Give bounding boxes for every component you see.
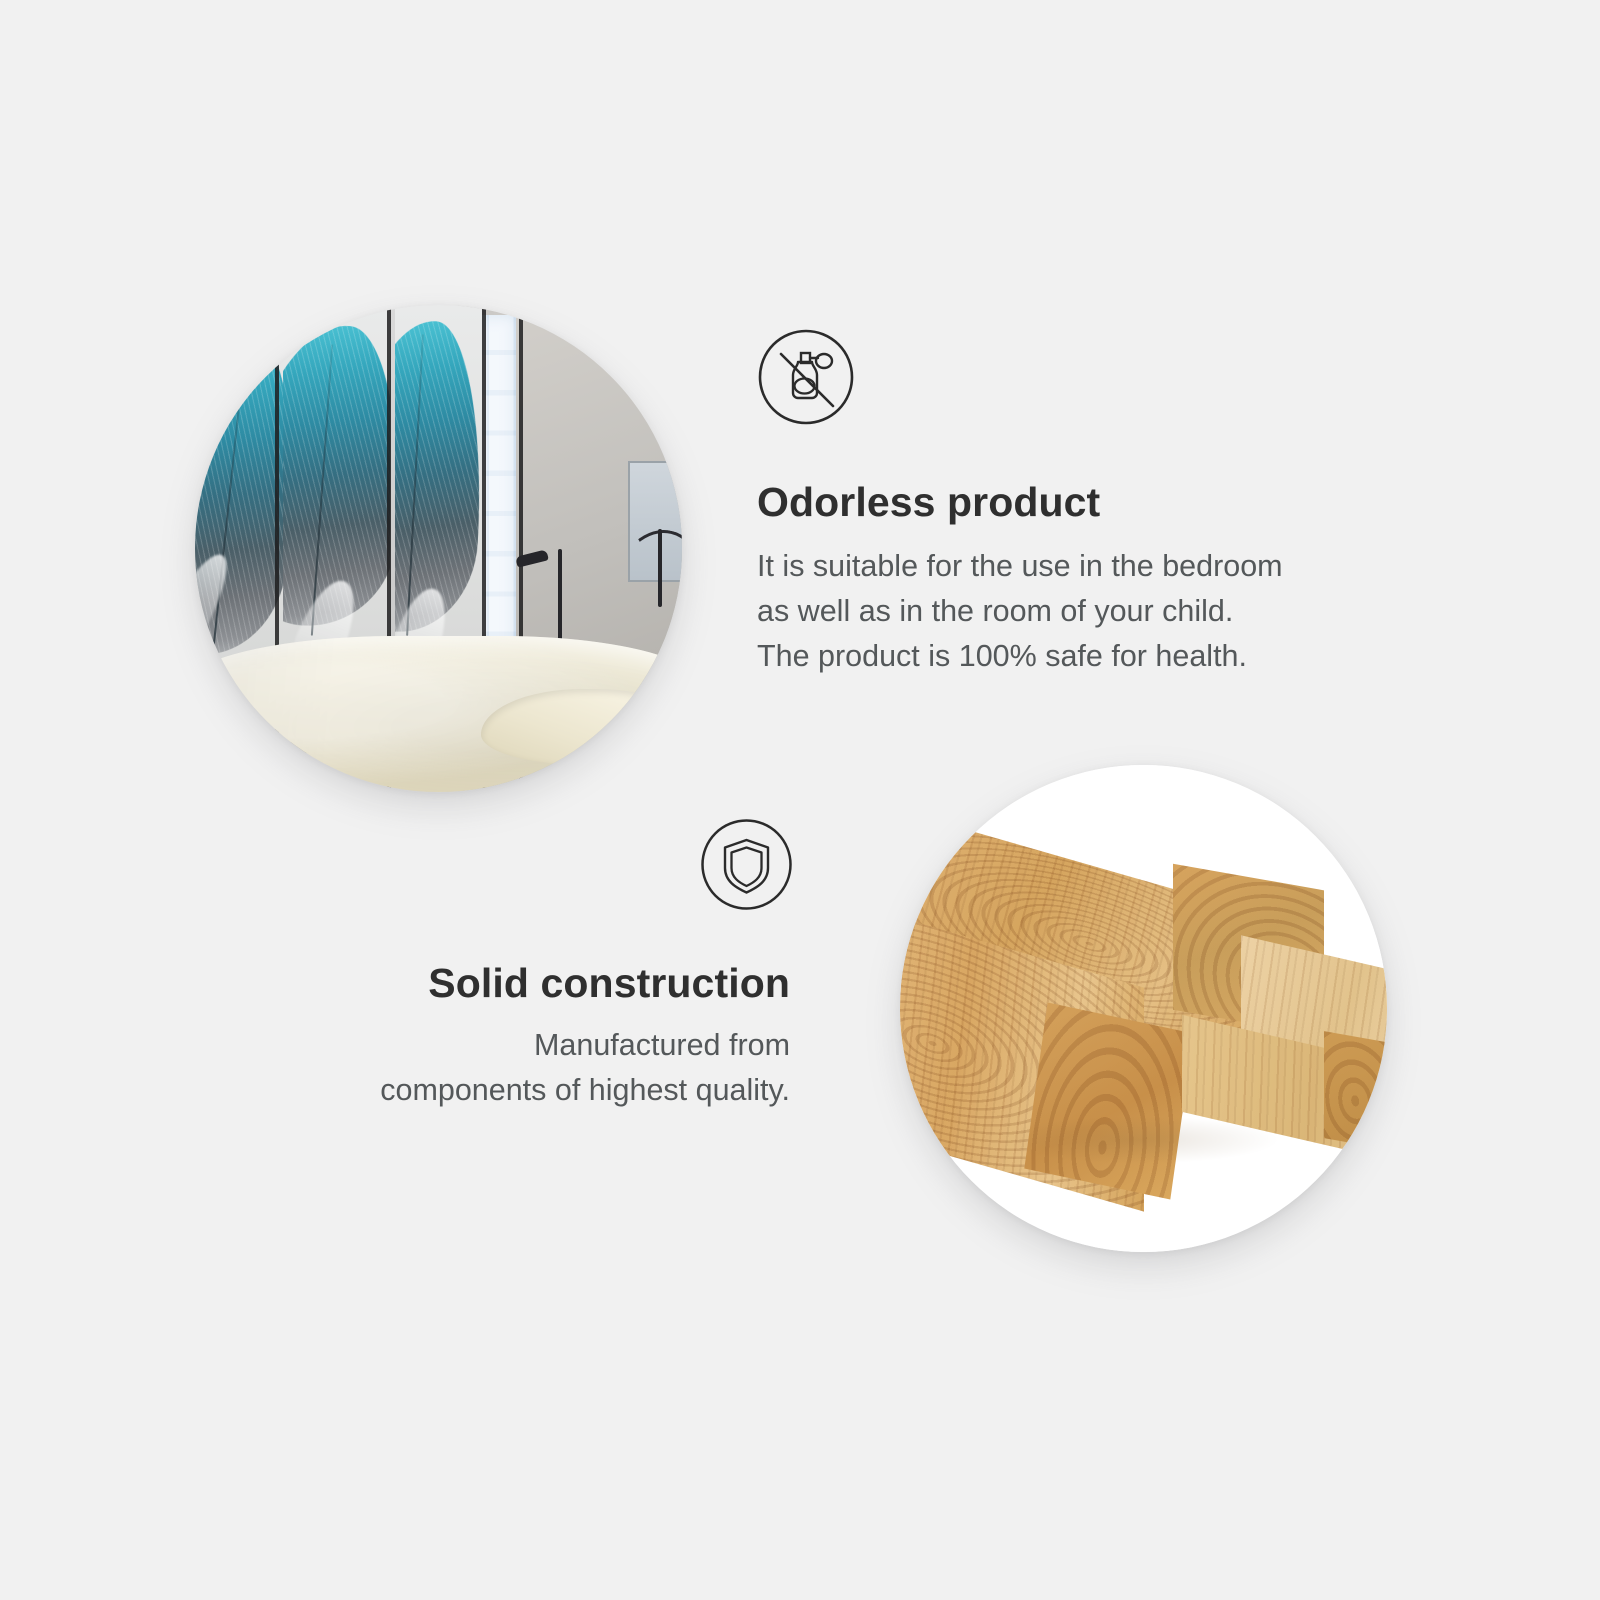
feature-body-line: components of highest quality.: [280, 1068, 790, 1113]
feature-body-line: It is suitable for the use in the bedroo…: [757, 544, 1283, 589]
feature-body-line: as well as in the room of your child.: [757, 589, 1283, 634]
feature-text-odorless: Odorless product It is suitable for the …: [757, 481, 1283, 679]
shield-icon: [700, 818, 793, 911]
feature-body-line: Manufactured from: [280, 1023, 790, 1068]
infographic-stage: Odorless product It is suitable for the …: [0, 0, 1600, 1600]
wooden-beams-photo: [900, 765, 1387, 1252]
feature-body-line: The product is 100% safe for health.: [757, 634, 1283, 679]
feature-text-solid-construction: Solid construction Manufactured from com…: [280, 962, 790, 1113]
feature-heading: Odorless product: [757, 481, 1283, 524]
feature-heading: Solid construction: [280, 962, 790, 1005]
bedroom-feather-artwork-photo: [195, 305, 682, 792]
no-fragrance-icon: [757, 328, 855, 426]
